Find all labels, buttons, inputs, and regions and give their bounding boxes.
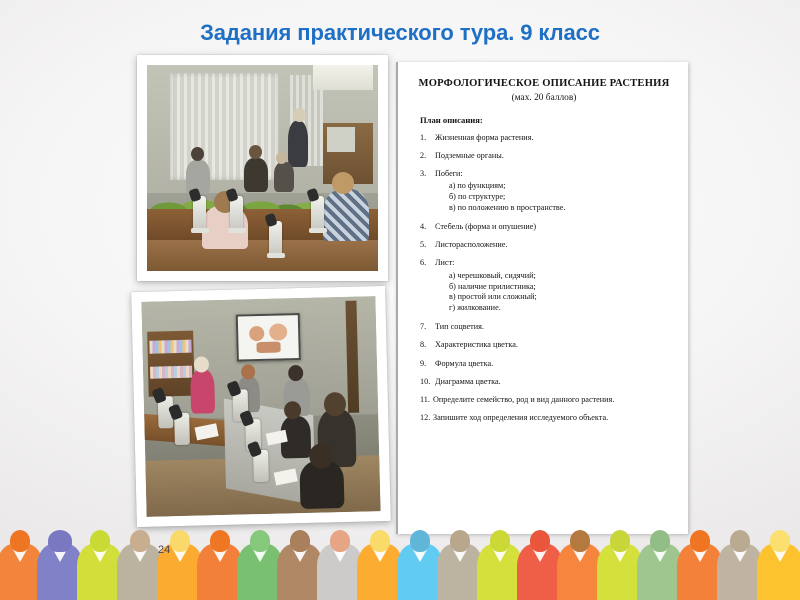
item-body: Лист: а) черешковый, сидячий; б) наличие… (435, 258, 537, 314)
item-text: Жизненная форма растения. (435, 133, 534, 143)
item-text: Побеги: (435, 169, 463, 178)
photo-biology-lab-microscopes[interactable] (137, 55, 388, 281)
item-body: Побеги: а) по функциям; б) по структуре;… (435, 169, 565, 214)
item-number: 6. (420, 258, 435, 314)
person-head (410, 530, 430, 552)
item-number: 5. (420, 240, 435, 250)
page-title: Задания практического тура. 9 класс (0, 20, 800, 46)
person-head (650, 530, 670, 552)
item-number: 9. (420, 359, 435, 369)
people-decoration-band (0, 508, 800, 600)
person-head (490, 530, 510, 552)
item-sublist: а) по функциям; б) по структуре; в) по п… (435, 181, 565, 213)
list-item: 11. Определите семейство, род и вид данн… (414, 395, 674, 405)
person-head (130, 530, 150, 552)
list-item: 8. Характеристика цветка. (414, 340, 674, 350)
person-head (610, 530, 630, 552)
sub-item: а) по функциям; (435, 181, 565, 192)
item-text: Диаграмма цветка. (435, 377, 501, 387)
item-text: Подземные органы. (435, 151, 504, 161)
document-title: МОРФОЛОГИЧЕСКОЕ ОПИСАНИЕ РАСТЕНИЯ (414, 78, 674, 91)
item-number: 10. (420, 377, 435, 387)
morphology-description-document[interactable]: МОРФОЛОГИЧЕСКОЕ ОПИСАНИЕ РАСТЕНИЯ (мах. … (396, 62, 688, 534)
document-item-list: 1. Жизненная форма растения. 2. Подземны… (414, 133, 674, 424)
sub-item: в) простой или сложный; (435, 292, 537, 303)
person-head (210, 530, 230, 552)
list-item: 1. Жизненная форма растения. (414, 133, 674, 143)
item-number: 4. (420, 222, 435, 232)
list-item: 12. Запишите ход определения исследуемог… (414, 413, 674, 423)
slide-number: 24 (158, 544, 170, 556)
presentation-slide: Задания практического тура. 9 класс (0, 0, 800, 600)
item-number: 12. (420, 413, 433, 423)
item-text: Определите семейство, род и вид данного … (433, 395, 614, 405)
person-head (450, 530, 470, 552)
person-head (690, 530, 710, 552)
item-text: Запишите ход определения исследуемого об… (433, 413, 608, 423)
person-head (370, 530, 390, 552)
item-text: Формула цветка. (435, 359, 493, 369)
sub-item: г) жилкование. (435, 303, 537, 314)
item-number: 8. (420, 340, 435, 350)
item-text: Тип соцветия. (435, 322, 484, 332)
document-subtitle: (мах. 20 баллов) (414, 93, 674, 103)
list-item: 10. Диаграмма цветка. (414, 377, 674, 387)
list-item: 6. Лист: а) черешковый, сидячий; б) нали… (414, 258, 674, 314)
item-text: Лист: (435, 258, 454, 267)
person-head (290, 530, 310, 552)
document-plan-label: План описания: (420, 115, 674, 125)
item-number: 11. (420, 395, 433, 405)
person-head (570, 530, 590, 552)
sub-item: в) по положению в пространстве. (435, 203, 565, 214)
person-head (330, 530, 350, 552)
photo-2-image (141, 296, 380, 517)
item-text: Характеристика цветка. (435, 340, 518, 350)
person-head (48, 530, 72, 552)
list-item: 4. Стебель (форма и опушение) (414, 222, 674, 232)
item-number: 7. (420, 322, 435, 332)
person-head (90, 530, 110, 552)
list-item: 3. Побеги: а) по функциям; б) по структу… (414, 169, 674, 214)
person-head (170, 530, 190, 552)
person-head (530, 530, 550, 552)
item-number: 2. (420, 151, 435, 161)
item-number: 3. (420, 169, 435, 214)
item-sublist: а) черешковый, сидячий; б) наличие прили… (435, 271, 537, 314)
sub-item: а) черешковый, сидячий; (435, 271, 537, 282)
list-item: 7. Тип соцветия. (414, 322, 674, 332)
list-item: 5. Листорасположение. (414, 240, 674, 250)
list-item: 2. Подземные органы. (414, 151, 674, 161)
sub-item: б) по структуре; (435, 192, 565, 203)
list-item: 9. Формула цветка. (414, 359, 674, 369)
photo-lab-with-projector[interactable] (131, 286, 391, 527)
photo-1-image (147, 65, 378, 271)
item-number: 1. (420, 133, 435, 143)
person-head (770, 530, 790, 552)
item-text: Листорасположение. (435, 240, 507, 250)
person-head (250, 530, 270, 552)
person-head (10, 530, 30, 552)
sub-item: б) наличие прилистника; (435, 282, 537, 293)
person-head (730, 530, 750, 552)
item-text: Стебель (форма и опушение) (435, 222, 536, 232)
